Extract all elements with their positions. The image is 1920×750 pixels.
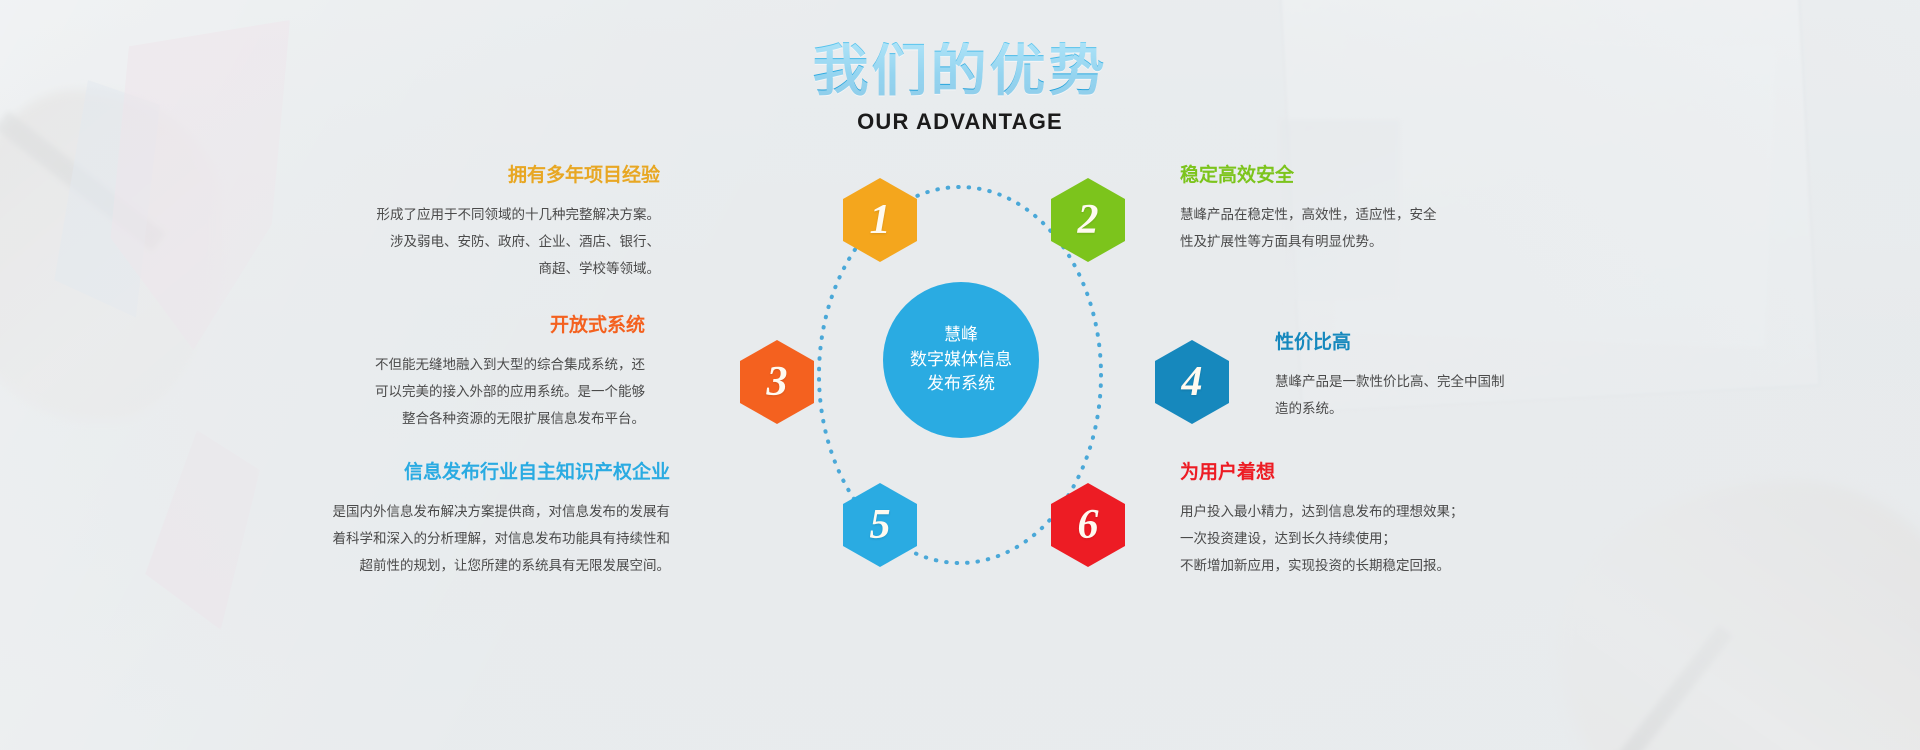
advantage-body-line: 性及扩展性等方面具有明显优势。 [1180,234,1383,249]
center-line-3: 发布系统 [927,372,995,397]
hex-number-4: 4 [1182,361,1203,403]
hex-number-6: 6 [1078,504,1099,546]
advantage-body-3: 不但能无缝地融入到大型的综合集成系统，还 可以完美的接入外部的应用系统。是一个能… [300,351,645,432]
advantage-title-3: 开放式系统 [300,315,645,338]
advantage-block-1: 拥有多年项目经验 形成了应用于不同领域的十几种完整解决方案。 涉及弱电、安防、政… [330,165,660,282]
advantage-body-line: 超前性的规划，让您所建的系统具有无限发展空间。 [360,558,671,573]
advantage-body-line: 整合各种资源的无限扩展信息发布平台。 [402,411,645,426]
advantage-body-line: 是国内外信息发布解决方案提供商，对信息发布的发展有 [333,504,671,519]
advantage-block-4: 性价比高 慧峰产品是一款性价比高、完全中国制 造的系统。 [1275,332,1605,422]
hex-number-3: 3 [767,361,788,403]
advantage-diagram: 慧峰 数字媒体信息 发布系统 1 2 3 4 5 6 拥有多年项目经验 形成了应… [0,0,1920,750]
advantage-title-5: 信息发布行业自主知识产权企业 [290,462,670,485]
advantage-body-6: 用户投入最小精力，达到信息发布的理想效果； 一次投资建设，达到长久持续使用； 不… [1180,498,1550,579]
advantage-block-2: 稳定高效安全 慧峰产品在稳定性，高效性，适应性，安全 性及扩展性等方面具有明显优… [1180,165,1540,255]
center-circle: 慧峰 数字媒体信息 发布系统 [883,282,1039,438]
hex-badge-3[interactable]: 3 [740,340,814,424]
advantage-body-4: 慧峰产品是一款性价比高、完全中国制 造的系统。 [1275,368,1605,422]
center-line-2: 数字媒体信息 [910,348,1012,373]
advantage-title-6: 为用户着想 [1180,462,1550,485]
advantage-block-3: 开放式系统 不但能无缝地融入到大型的综合集成系统，还 可以完美的接入外部的应用系… [300,315,645,432]
center-line-1: 慧峰 [944,323,978,348]
advantage-body-line: 慧峰产品是一款性价比高、完全中国制 [1275,374,1505,389]
advantage-body-line: 商超、学校等领域。 [539,261,661,276]
advantage-body-5: 是国内外信息发布解决方案提供商，对信息发布的发展有 着科学和深入的分析理解，对信… [290,498,670,579]
advantage-body-line: 着科学和深入的分析理解，对信息发布功能具有持续性和 [333,531,671,546]
hex-number-2: 2 [1078,199,1099,241]
advantage-body-line: 慧峰产品在稳定性，高效性，适应性，安全 [1180,207,1437,222]
advantage-title-4: 性价比高 [1275,332,1605,355]
hex-number-1: 1 [870,199,891,241]
advantage-title-2: 稳定高效安全 [1180,165,1540,188]
advantage-block-5: 信息发布行业自主知识产权企业 是国内外信息发布解决方案提供商，对信息发布的发展有… [290,462,670,579]
advantage-body-line: 涉及弱电、安防、政府、企业、酒店、银行、 [390,234,660,249]
hex-number-5: 5 [870,504,891,546]
advantage-body-line: 可以完美的接入外部的应用系统。是一个能够 [375,384,645,399]
advantage-body-line: 造的系统。 [1275,401,1343,416]
advantage-body-1: 形成了应用于不同领域的十几种完整解决方案。 涉及弱电、安防、政府、企业、酒店、银… [330,201,660,282]
advantage-body-line: 形成了应用于不同领域的十几种完整解决方案。 [377,207,661,222]
advantage-body-line: 不但能无缝地融入到大型的综合集成系统，还 [375,357,645,372]
hex-badge-4[interactable]: 4 [1155,340,1229,424]
advantage-body-line: 用户投入最小精力，达到信息发布的理想效果； [1180,504,1464,519]
advantage-body-2: 慧峰产品在稳定性，高效性，适应性，安全 性及扩展性等方面具有明显优势。 [1180,201,1540,255]
advantage-body-line: 不断增加新应用，实现投资的长期稳定回报。 [1180,558,1450,573]
advantage-block-6: 为用户着想 用户投入最小精力，达到信息发布的理想效果； 一次投资建设，达到长久持… [1180,462,1550,579]
advantage-title-1: 拥有多年项目经验 [330,165,660,188]
advantage-body-line: 一次投资建设，达到长久持续使用； [1180,531,1396,546]
